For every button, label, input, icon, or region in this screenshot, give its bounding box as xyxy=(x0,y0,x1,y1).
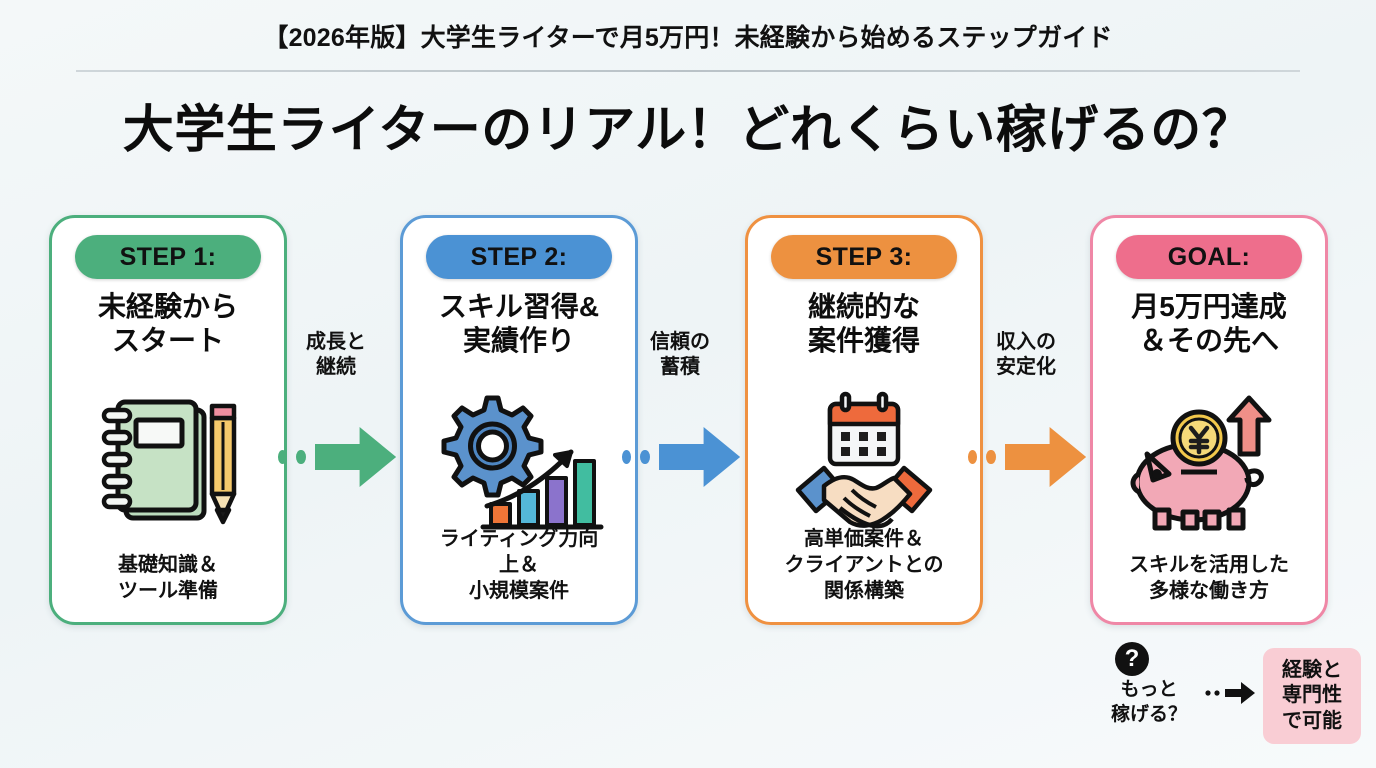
note-question-text: もっと 稼げる？ xyxy=(1095,678,1203,727)
connector-1-label: 成長と 継続 xyxy=(276,330,396,380)
notebook-pencil-icon xyxy=(52,386,284,542)
connector-1: 成長と 継続 xyxy=(276,330,396,500)
connector-2: 信頼の 蓄積 xyxy=(620,330,740,500)
infographic-canvas: 【2026年版】大学生ライターで月5万円！未経験から始めるステップガイド 大学生… xyxy=(0,0,1376,768)
connector-3-arrow xyxy=(966,426,1086,488)
gear-growth-chart-icon xyxy=(403,386,635,542)
header-subtitle: 【2026年版】大学生ライターで月5万円！未経験から始めるステップガイド xyxy=(0,18,1376,54)
connector-2-label: 信頼の 蓄積 xyxy=(620,330,740,380)
arrow-right-icon xyxy=(1005,426,1086,488)
goal-badge: GOAL: xyxy=(1116,235,1302,279)
step-card-3: STEP 3: 継続的な 案件獲得 xyxy=(745,215,983,625)
step-2-headline: スキル習得& 実績作り xyxy=(411,290,627,357)
goal-card: GOAL: 月5万円達成 ＆その先へ xyxy=(1090,215,1328,625)
connector-2-arrow xyxy=(620,426,740,488)
connector-1-arrow xyxy=(276,426,396,488)
step-3-caption: 高単価案件＆ クライアントとの 関係構築 xyxy=(754,526,974,604)
note-answer-box: 経験と 専門性 で可能 xyxy=(1263,648,1361,744)
step-1-headline: 未経験から スタート xyxy=(60,290,276,357)
calendar-handshake-icon xyxy=(748,386,980,542)
step-3-badge: STEP 3: xyxy=(771,235,957,279)
step-1-badge: STEP 1: xyxy=(75,235,261,279)
header-divider xyxy=(76,70,1300,72)
arrow-right-icon xyxy=(659,426,740,488)
goal-caption: スキルを活用した 多様な働き方 xyxy=(1099,552,1319,604)
arrow-right-icon xyxy=(315,426,396,488)
bottom-note: ? もっと 稼げる？ 経験と 専門性 で可能 xyxy=(1095,640,1365,758)
step-card-1: STEP 1: 未経験から スタート xyxy=(49,215,287,625)
dotted-arrow-icon xyxy=(1203,680,1259,706)
goal-headline: 月5万円達成 ＆その先へ xyxy=(1101,290,1317,357)
page-title: 大学生ライターのリアル！どれくらい稼げるの？ xyxy=(0,88,1376,162)
step-2-badge: STEP 2: xyxy=(426,235,612,279)
step-2-caption: ライティング力向 上＆ 小規模案件 xyxy=(409,526,629,604)
connector-3-label: 収入の 安定化 xyxy=(966,330,1086,380)
piggy-bank-yen-icon xyxy=(1093,386,1325,542)
question-mark-icon: ? xyxy=(1115,642,1149,676)
connector-3: 収入の 安定化 xyxy=(966,330,1086,500)
step-1-caption: 基礎知識＆ ツール準備 xyxy=(58,552,278,604)
step-3-headline: 継続的な 案件獲得 xyxy=(756,290,972,357)
step-card-2: STEP 2: スキル習得& 実績作り ライティング力向 xyxy=(400,215,638,625)
